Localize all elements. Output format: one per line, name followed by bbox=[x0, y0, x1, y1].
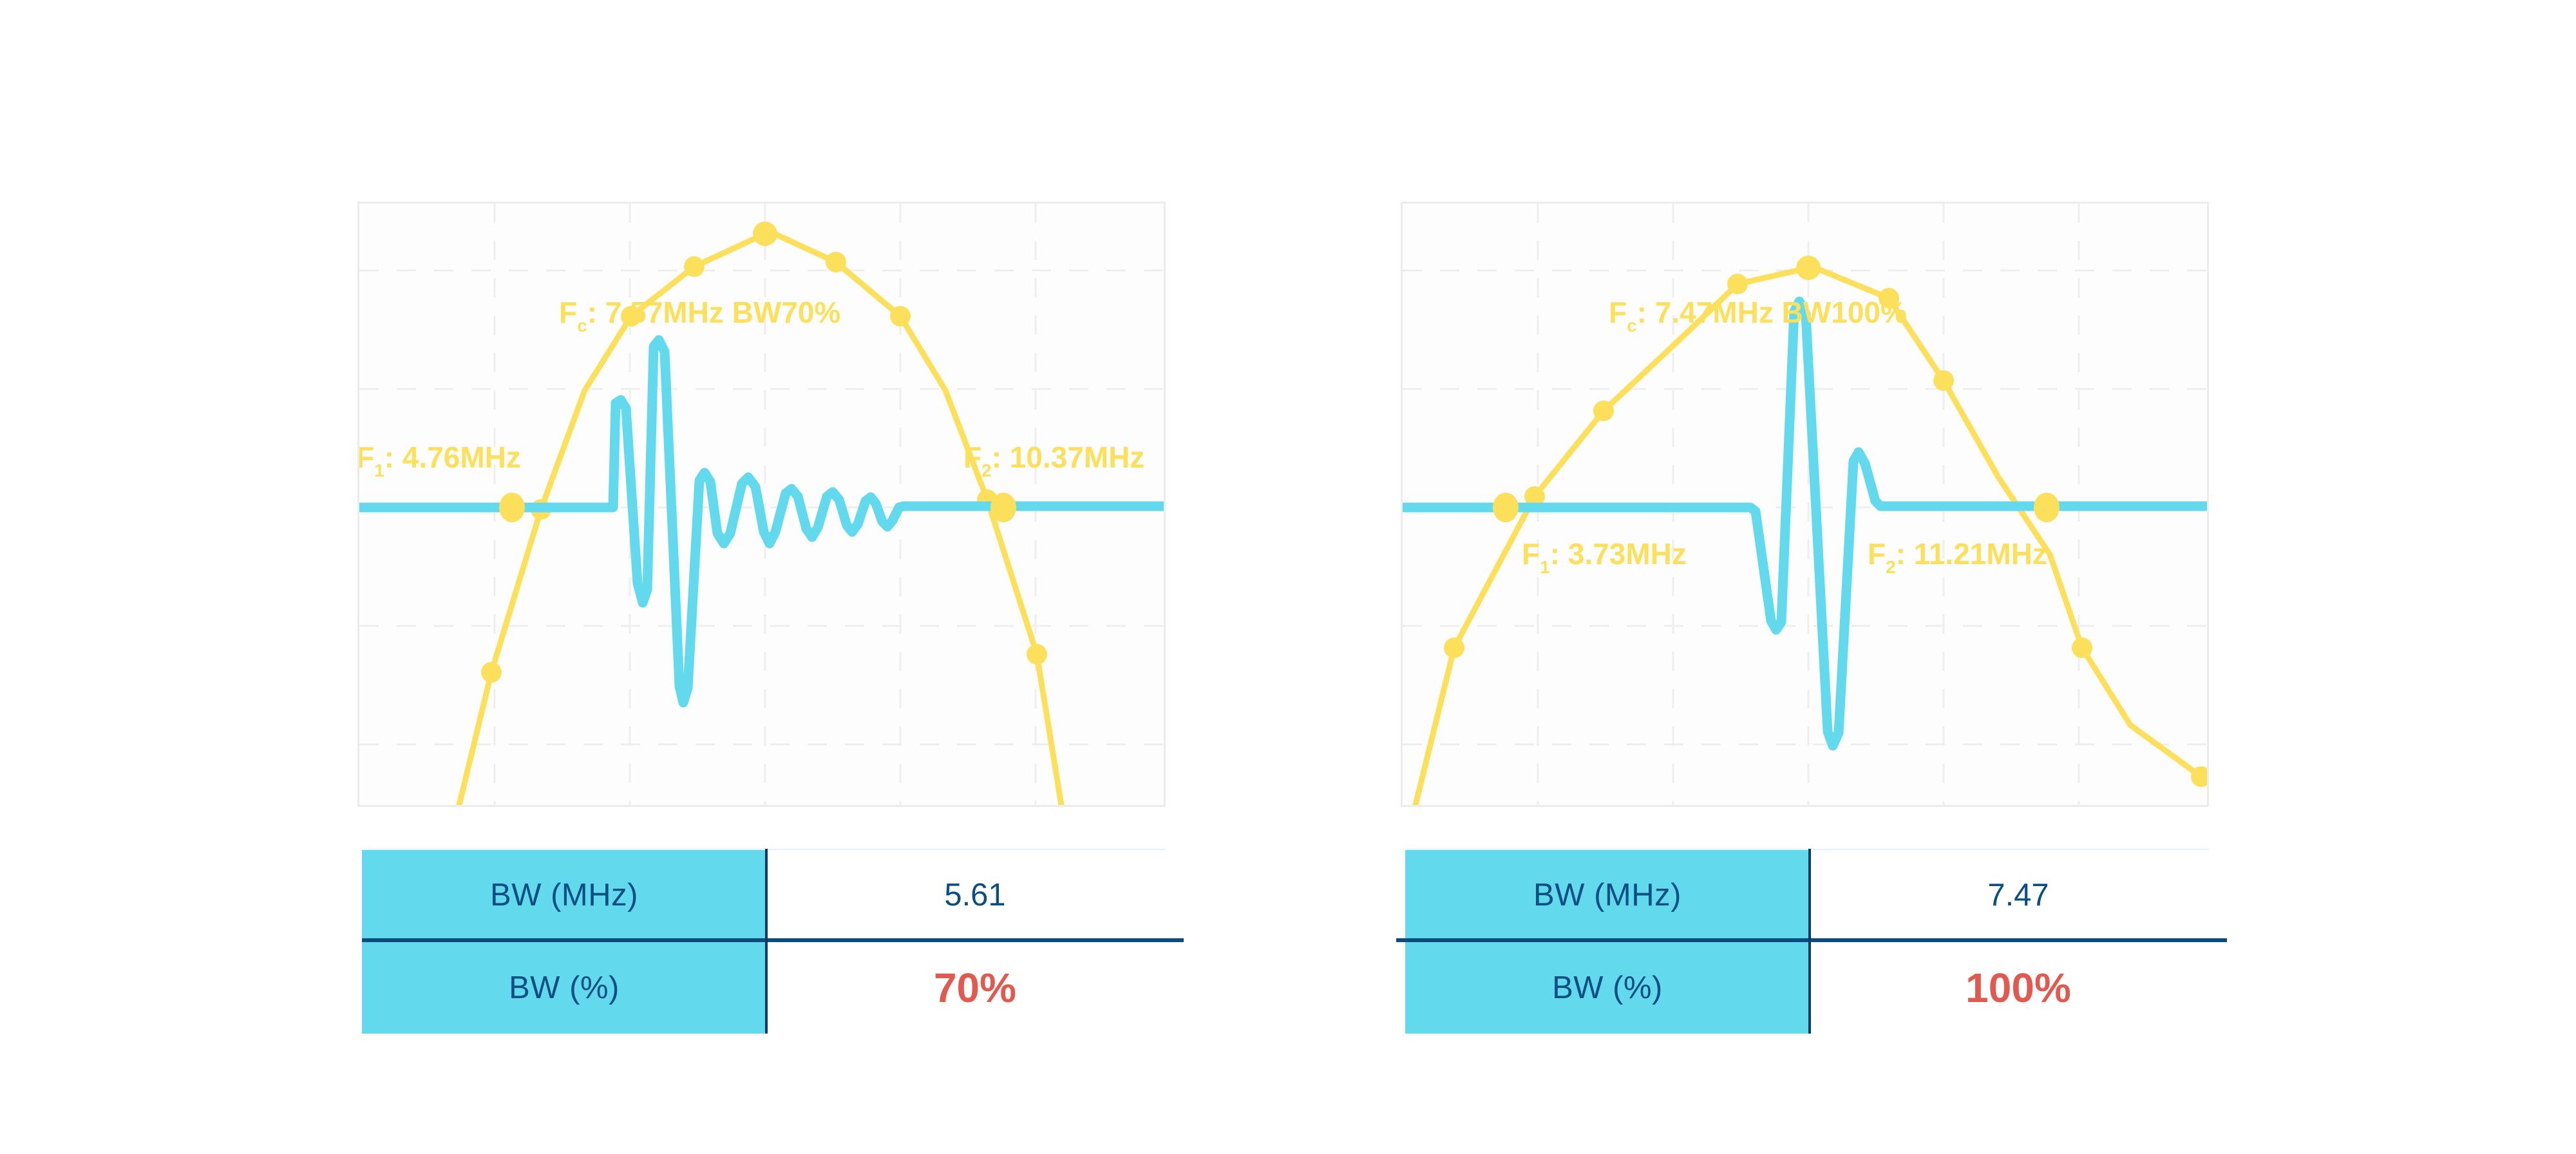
bw-pct-label-left: BW (%) bbox=[362, 942, 766, 1034]
f2-annotation-left: F2: 10.37MHz bbox=[963, 440, 1144, 480]
bw-pct-value-left: 70% bbox=[766, 942, 1184, 1034]
f2-marker-right bbox=[2034, 493, 2060, 522]
table-row: BW (MHz) 7.47 bbox=[1405, 850, 2227, 940]
f2-marker-left bbox=[990, 493, 1016, 522]
figure-root: Fc: 7.57MHz BW70% F1: 4.76MHz F2: 10.37M… bbox=[0, 0, 2576, 1154]
panel-left: Fc: 7.57MHz BW70% F1: 4.76MHz F2: 10.37M… bbox=[357, 202, 1166, 807]
fc-prefix-left: F bbox=[559, 296, 577, 329]
fc-annotation-left: Fc: 7.57MHz BW70% bbox=[559, 296, 840, 336]
f1-sub-right: 1 bbox=[1540, 557, 1550, 577]
chart-frame-left: Fc: 7.57MHz BW70% F1: 4.76MHz F2: 10.37M… bbox=[357, 202, 1166, 807]
f2-text-right: : 11.21MHz bbox=[1896, 537, 2047, 571]
f1-annotation-right: F1: 3.73MHz bbox=[1522, 537, 1687, 577]
bw-pct-value-right: 100% bbox=[1810, 942, 2227, 1034]
bw-pct-label-right: BW (%) bbox=[1405, 942, 1810, 1034]
f1-marker-left bbox=[499, 493, 525, 522]
f1-annotation-left: F1: 4.76MHz bbox=[359, 440, 521, 480]
chart-left: Fc: 7.57MHz BW70% F1: 4.76MHz F2: 10.37M… bbox=[359, 203, 1164, 805]
table-row: BW (MHz) 5.61 bbox=[362, 850, 1184, 940]
f1-text-right: : 3.73MHz bbox=[1550, 537, 1687, 571]
bw-mhz-value-right: 7.47 bbox=[1810, 850, 2227, 940]
fc-text-left: : 7.57MHz BW70% bbox=[587, 296, 841, 329]
table-column-divider-right bbox=[1808, 849, 1811, 1034]
f2-sub-right: 2 bbox=[1886, 557, 1896, 577]
f2-text-left: : 10.37MHz bbox=[992, 440, 1145, 474]
panel-right: Fc: 7.47MHz BW100% F1: 3.73MHz F2: 11.21… bbox=[1401, 202, 2209, 807]
table-column-divider-left bbox=[765, 849, 768, 1034]
table-row: BW (%) 100% bbox=[1405, 942, 2227, 1034]
fc-prefix-right: F bbox=[1609, 296, 1627, 329]
f1-sub-left: 1 bbox=[374, 460, 384, 480]
bw-mhz-label-right: BW (MHz) bbox=[1405, 850, 1810, 940]
bw-table-left: BW (MHz) 5.61 BW (%) 70% bbox=[362, 849, 1186, 1036]
f2-sub-left: 2 bbox=[981, 460, 992, 480]
fc-text-right: : 7.47MHz BW100% bbox=[1637, 296, 1907, 329]
f2-prefix-right: F bbox=[1868, 537, 1886, 571]
f2-annotation-right: F2: 11.21MHz bbox=[1868, 537, 2047, 577]
bw-table-right: BW (MHz) 7.47 BW (%) 100% bbox=[1405, 849, 2230, 1036]
bw-mhz-label-left: BW (MHz) bbox=[362, 850, 766, 940]
f1-marker-right bbox=[1493, 493, 1519, 522]
f1-prefix-left: F bbox=[359, 440, 374, 474]
bw-mhz-value-left: 5.61 bbox=[766, 850, 1184, 940]
fc-annotation-right: Fc: 7.47MHz BW100% bbox=[1609, 296, 1907, 336]
chart-frame-right: Fc: 7.47MHz BW100% F1: 3.73MHz F2: 11.21… bbox=[1401, 202, 2209, 807]
table-row: BW (%) 70% bbox=[362, 942, 1184, 1034]
f1-text-left: : 4.76MHz bbox=[384, 440, 521, 474]
fc-sub-right: c bbox=[1627, 316, 1637, 336]
f2-prefix-left: F bbox=[963, 440, 981, 474]
fc-sub-left: c bbox=[577, 316, 587, 336]
f1-prefix-right: F bbox=[1522, 537, 1540, 571]
chart-right: Fc: 7.47MHz BW100% F1: 3.73MHz F2: 11.21… bbox=[1403, 203, 2207, 805]
